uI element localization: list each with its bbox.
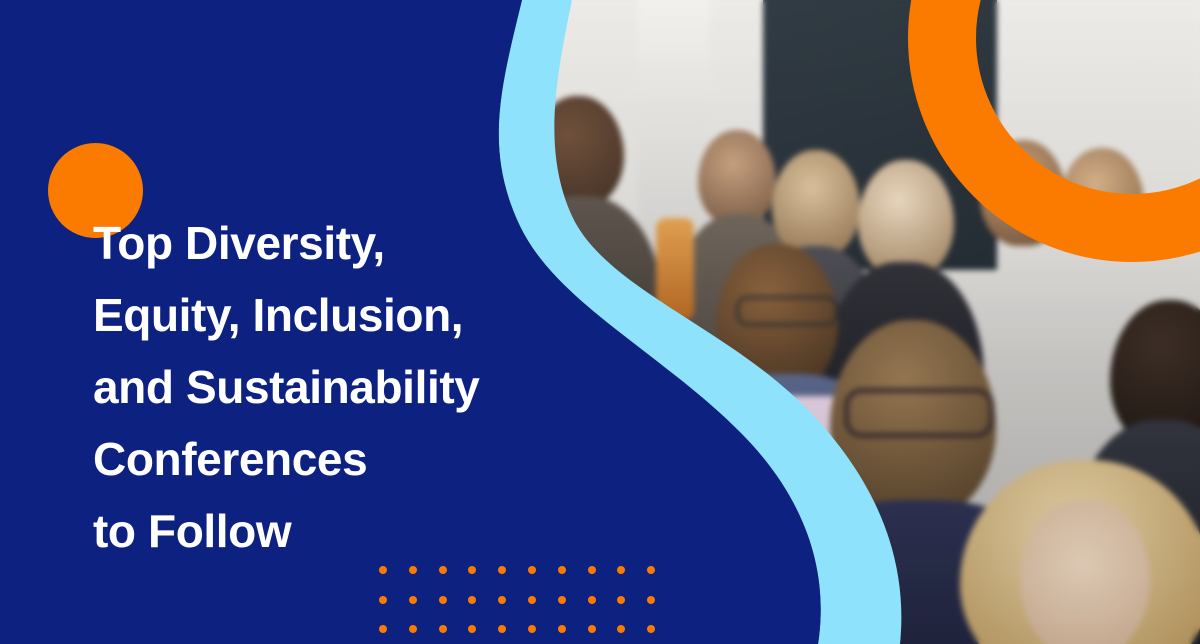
- orange-dot: [588, 596, 596, 604]
- orange-dot: [468, 596, 476, 604]
- orange-dot: [468, 566, 476, 574]
- orange-dot: [647, 596, 655, 604]
- orange-dot-grid: [379, 566, 677, 644]
- orange-dot: [588, 625, 596, 633]
- orange-dot: [409, 625, 417, 633]
- orange-dot: [409, 596, 417, 604]
- orange-dot: [498, 566, 506, 574]
- orange-dot: [617, 566, 625, 574]
- orange-dot: [379, 625, 387, 633]
- orange-dot: [498, 625, 506, 633]
- orange-dot: [588, 566, 596, 574]
- orange-dot: [617, 625, 625, 633]
- orange-dot: [379, 596, 387, 604]
- orange-dot: [528, 625, 536, 633]
- orange-dot: [558, 625, 566, 633]
- dei-conference-banner: Top Diversity, Equity, Inclusion, and Su…: [0, 0, 1200, 644]
- orange-dot: [558, 566, 566, 574]
- orange-dot: [439, 566, 447, 574]
- orange-dot: [379, 566, 387, 574]
- orange-dot: [528, 596, 536, 604]
- orange-dot: [468, 625, 476, 633]
- orange-dot: [647, 566, 655, 574]
- orange-dot: [647, 625, 655, 633]
- orange-dot: [558, 596, 566, 604]
- orange-dot: [498, 596, 506, 604]
- orange-dot: [439, 596, 447, 604]
- page-title: Top Diversity, Equity, Inclusion, and Su…: [93, 207, 613, 567]
- orange-dot: [409, 566, 417, 574]
- orange-dot: [617, 596, 625, 604]
- orange-dot: [528, 566, 536, 574]
- orange-dot: [439, 625, 447, 633]
